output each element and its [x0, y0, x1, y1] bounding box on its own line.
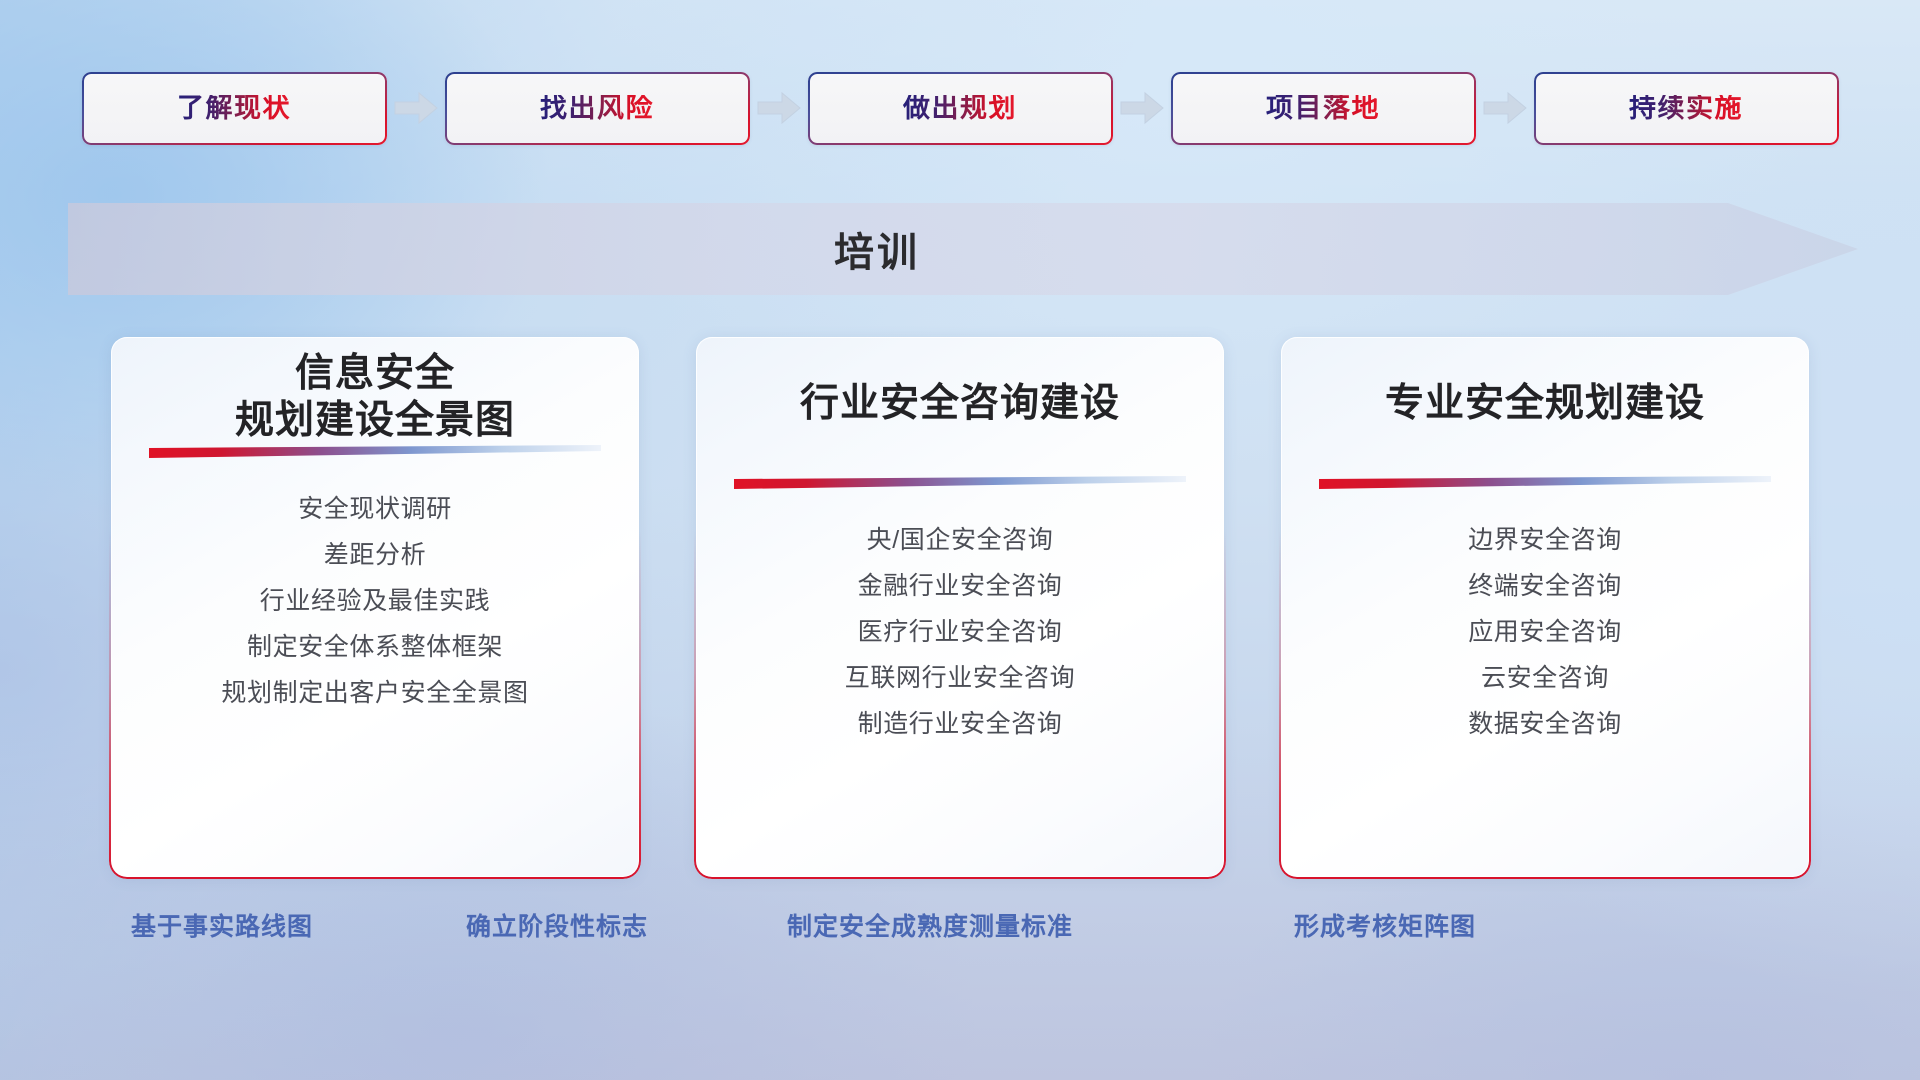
step-1-wrapper: 了解现状 [82, 68, 445, 148]
list-item: 安全现状调研 [145, 487, 605, 533]
list-item: 应用安全咨询 [1315, 610, 1775, 656]
capability-card-2-body: 行业安全咨询建设 [696, 337, 1224, 877]
outcome-caption-2: 确立阶段性标志 [466, 915, 648, 940]
list-item: 数据安全咨询 [1315, 702, 1775, 748]
capability-card-3[interactable]: 专业安全规划建设 [1281, 337, 1809, 877]
step-chip-5[interactable]: 持续实施 [1534, 72, 1839, 145]
step-4-wrapper: 项目落地 [1171, 68, 1534, 148]
capability-card-3-divider [1319, 476, 1771, 492]
capability-card-2-list: 央/国企安全咨询 金融行业安全咨询 医疗行业安全咨询 互联网行业安全咨询 制造行… [730, 518, 1190, 748]
step-chip-4-label: 项目落地 [1266, 95, 1380, 122]
capability-card-3-title-line-1: 专业安全规划建设 [1315, 381, 1775, 428]
list-item: 医疗行业安全咨询 [730, 610, 1190, 656]
capability-cards: 信息安全 规划建设全景图 [0, 337, 1920, 879]
step-arrow-icon-3 [1113, 68, 1171, 148]
outcome-caption-3: 制定安全成熟度测量标准 [787, 915, 1073, 940]
step-chip-2[interactable]: 找出风险 [445, 72, 750, 145]
capability-card-2-divider [734, 476, 1186, 492]
list-item: 制造行业安全咨询 [730, 702, 1190, 748]
capability-card-2[interactable]: 行业安全咨询建设 [696, 337, 1224, 877]
step-chip-2-label: 找出风险 [540, 95, 654, 122]
capability-card-3-title: 专业安全规划建设 [1315, 337, 1775, 428]
capability-card-3-list: 边界安全咨询 终端安全咨询 应用安全咨询 云安全咨询 数据安全咨询 [1315, 518, 1775, 748]
capability-card-1-title-line-1: 信息安全 [145, 351, 605, 398]
step-chip-3-label: 做出规划 [903, 95, 1017, 122]
list-item: 边界安全咨询 [1315, 518, 1775, 564]
step-5-wrapper: 持续实施 [1534, 72, 1839, 145]
list-item: 终端安全咨询 [1315, 564, 1775, 610]
step-3-wrapper: 做出规划 [808, 68, 1171, 148]
outcome-captions: 基于事实路线图 确立阶段性标志 制定安全成熟度测量标准 形成考核矩阵图 [0, 915, 1920, 965]
step-chip-1-label: 了解现状 [177, 95, 291, 122]
capability-card-1-list: 安全现状调研 差距分析 行业经验及最佳实践 制定安全体系整体框架 规划制定出客户… [145, 487, 605, 717]
capability-card-1-divider [149, 445, 601, 461]
training-banner-label-wrap: 培训 [68, 203, 1858, 295]
step-2-wrapper: 找出风险 [445, 68, 808, 148]
list-item: 央/国企安全咨询 [730, 518, 1190, 564]
list-item: 金融行业安全咨询 [730, 564, 1190, 610]
outcome-caption-4: 形成考核矩阵图 [1294, 915, 1476, 940]
step-arrow-icon-1 [387, 68, 445, 148]
step-chip-1[interactable]: 了解现状 [82, 72, 387, 145]
step-chip-5-label: 持续实施 [1629, 95, 1743, 122]
list-item: 互联网行业安全咨询 [730, 656, 1190, 702]
step-arrow-icon-4 [1476, 68, 1534, 148]
process-step-flow: 了解现状 找出风险 做出规划 项目落地 [0, 68, 1920, 148]
list-item: 云安全咨询 [1315, 656, 1775, 702]
capability-card-2-title-line-1: 行业安全咨询建设 [730, 381, 1190, 428]
training-banner: 培训 [68, 203, 1858, 295]
list-item: 差距分析 [145, 533, 605, 579]
list-item: 制定安全体系整体框架 [145, 625, 605, 671]
capability-card-3-body: 专业安全规划建设 [1281, 337, 1809, 877]
step-arrow-icon-2 [750, 68, 808, 148]
list-item: 行业经验及最佳实践 [145, 579, 605, 625]
outcome-caption-1: 基于事实路线图 [131, 915, 313, 940]
capability-card-1[interactable]: 信息安全 规划建设全景图 [111, 337, 639, 877]
training-banner-label: 培训 [834, 220, 920, 278]
capability-card-1-title-line-2: 规划建设全景图 [145, 398, 605, 445]
step-chip-3[interactable]: 做出规划 [808, 72, 1113, 145]
capability-card-1-title: 信息安全 规划建设全景图 [145, 337, 605, 445]
capability-card-2-title: 行业安全咨询建设 [730, 337, 1190, 428]
step-chip-4[interactable]: 项目落地 [1171, 72, 1476, 145]
list-item: 规划制定出客户安全全景图 [145, 671, 605, 717]
capability-card-1-body: 信息安全 规划建设全景图 [111, 337, 639, 877]
